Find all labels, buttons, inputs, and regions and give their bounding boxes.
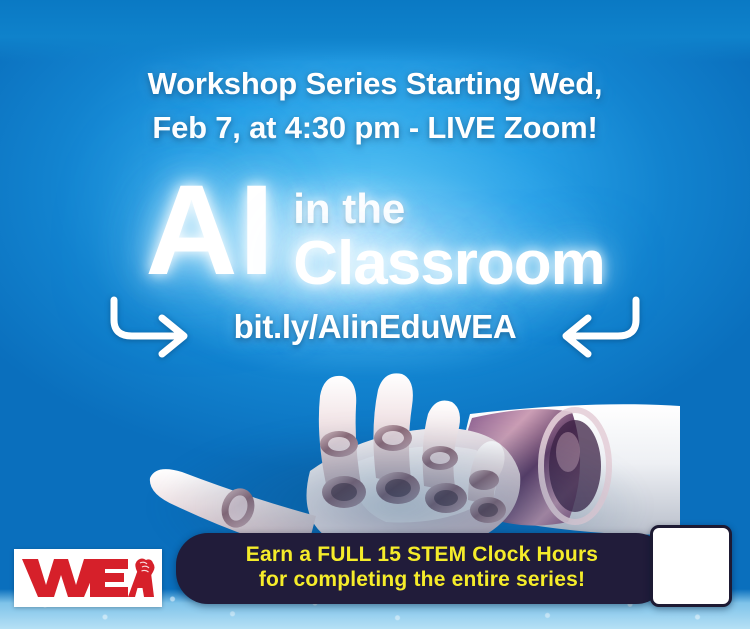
wea-logo	[14, 549, 162, 607]
title-lockup: AI in the Classroom	[0, 176, 750, 295]
banner-line-2: for completing the entire series!	[198, 567, 646, 593]
title-right-stack: in the Classroom	[293, 176, 604, 295]
qr-code[interactable]	[650, 525, 732, 607]
left-arrow-icon	[104, 292, 200, 364]
right-arrow-icon	[550, 292, 646, 364]
page-title-ai: AI	[145, 172, 275, 290]
promotional-flyer: Workshop Series Starting Wed, Feb 7, at …	[0, 0, 750, 629]
wea-logo-mark	[20, 555, 156, 601]
headline-line-2: Feb 7, at 4:30 pm - LIVE Zoom!	[0, 106, 750, 150]
headline-line-1: Workshop Series Starting Wed,	[0, 62, 750, 106]
title-connector: in the	[293, 188, 405, 231]
headline: Workshop Series Starting Wed, Feb 7, at …	[0, 62, 750, 150]
banner-line-1: Earn a FULL 15 STEM Clock Hours	[198, 542, 646, 568]
title-subject: Classroom	[293, 233, 604, 295]
qr-code-image	[657, 532, 725, 600]
status-badge-clock-hours: Earn a FULL 15 STEM Clock Hours for comp…	[176, 533, 668, 604]
